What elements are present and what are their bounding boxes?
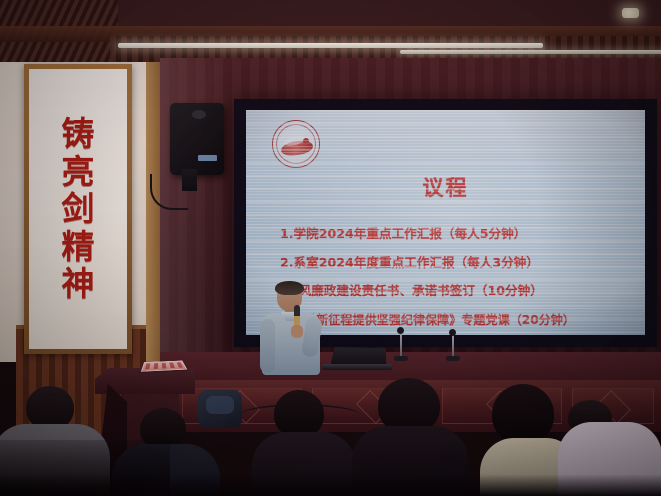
presenter <box>262 283 322 373</box>
banner-char-5: 神 <box>62 267 95 301</box>
table-microphone-stand-1 <box>400 330 402 358</box>
table-microphone-base-2 <box>446 356 460 361</box>
wall-calligraphy-banner: 铸 亮 剑 精 神 <box>24 64 132 354</box>
table-microphone-head-1 <box>397 327 404 334</box>
slide-title: 议程 <box>246 172 645 202</box>
emblem-dot <box>303 138 309 144</box>
name-card-text <box>145 362 183 369</box>
foreground-shadow-bottom <box>0 474 661 496</box>
loudspeaker-badge <box>198 155 217 161</box>
banner-char-2: 亮 <box>62 155 95 189</box>
table-microphone-head-2 <box>449 329 456 336</box>
slide-agenda-list: 1.学院2024年重点工作汇报（每人5分钟） 2.系室2024年度重点工作汇报（… <box>280 228 638 335</box>
banner-char-3: 剑 <box>62 192 95 226</box>
fluorescent-tube-light-icon <box>118 43 543 48</box>
loudspeaker-cone-icon <box>192 110 206 119</box>
fluorescent-tube-light-secondary-icon <box>400 50 661 54</box>
agenda-item-4: 奋进新征程提供坚强纪律保障》专题党课（20分钟） <box>292 314 638 326</box>
presenter-hand <box>291 325 303 338</box>
presenter-hair <box>275 281 304 295</box>
agenda-item-3: 党风廉政建设责任书、承诺书签订（10分钟） <box>286 285 638 298</box>
presenter-laptop-base <box>322 364 392 370</box>
wall-loudspeaker <box>170 103 224 175</box>
audience-head-3 <box>274 390 324 438</box>
presenter-left-arm <box>260 319 275 373</box>
spot-light-icon <box>622 8 639 18</box>
banner-char-4: 精 <box>62 230 95 264</box>
banner-char-1: 铸 <box>62 117 95 151</box>
table-microphone-base-1 <box>394 356 408 361</box>
institution-emblem-icon <box>272 120 320 168</box>
conference-hall-scene: 铸 亮 剑 精 神 议程 1.学院2024年重点工作汇报（每人5分钟） 2.系室… <box>0 0 661 496</box>
audience-head-5 <box>492 384 554 444</box>
agenda-item-1: 1.学院2024年重点工作汇报（每人5分钟） <box>280 228 638 241</box>
agenda-item-2: 2.系室2024年度重点工作汇报（每人3分钟） <box>280 257 638 270</box>
